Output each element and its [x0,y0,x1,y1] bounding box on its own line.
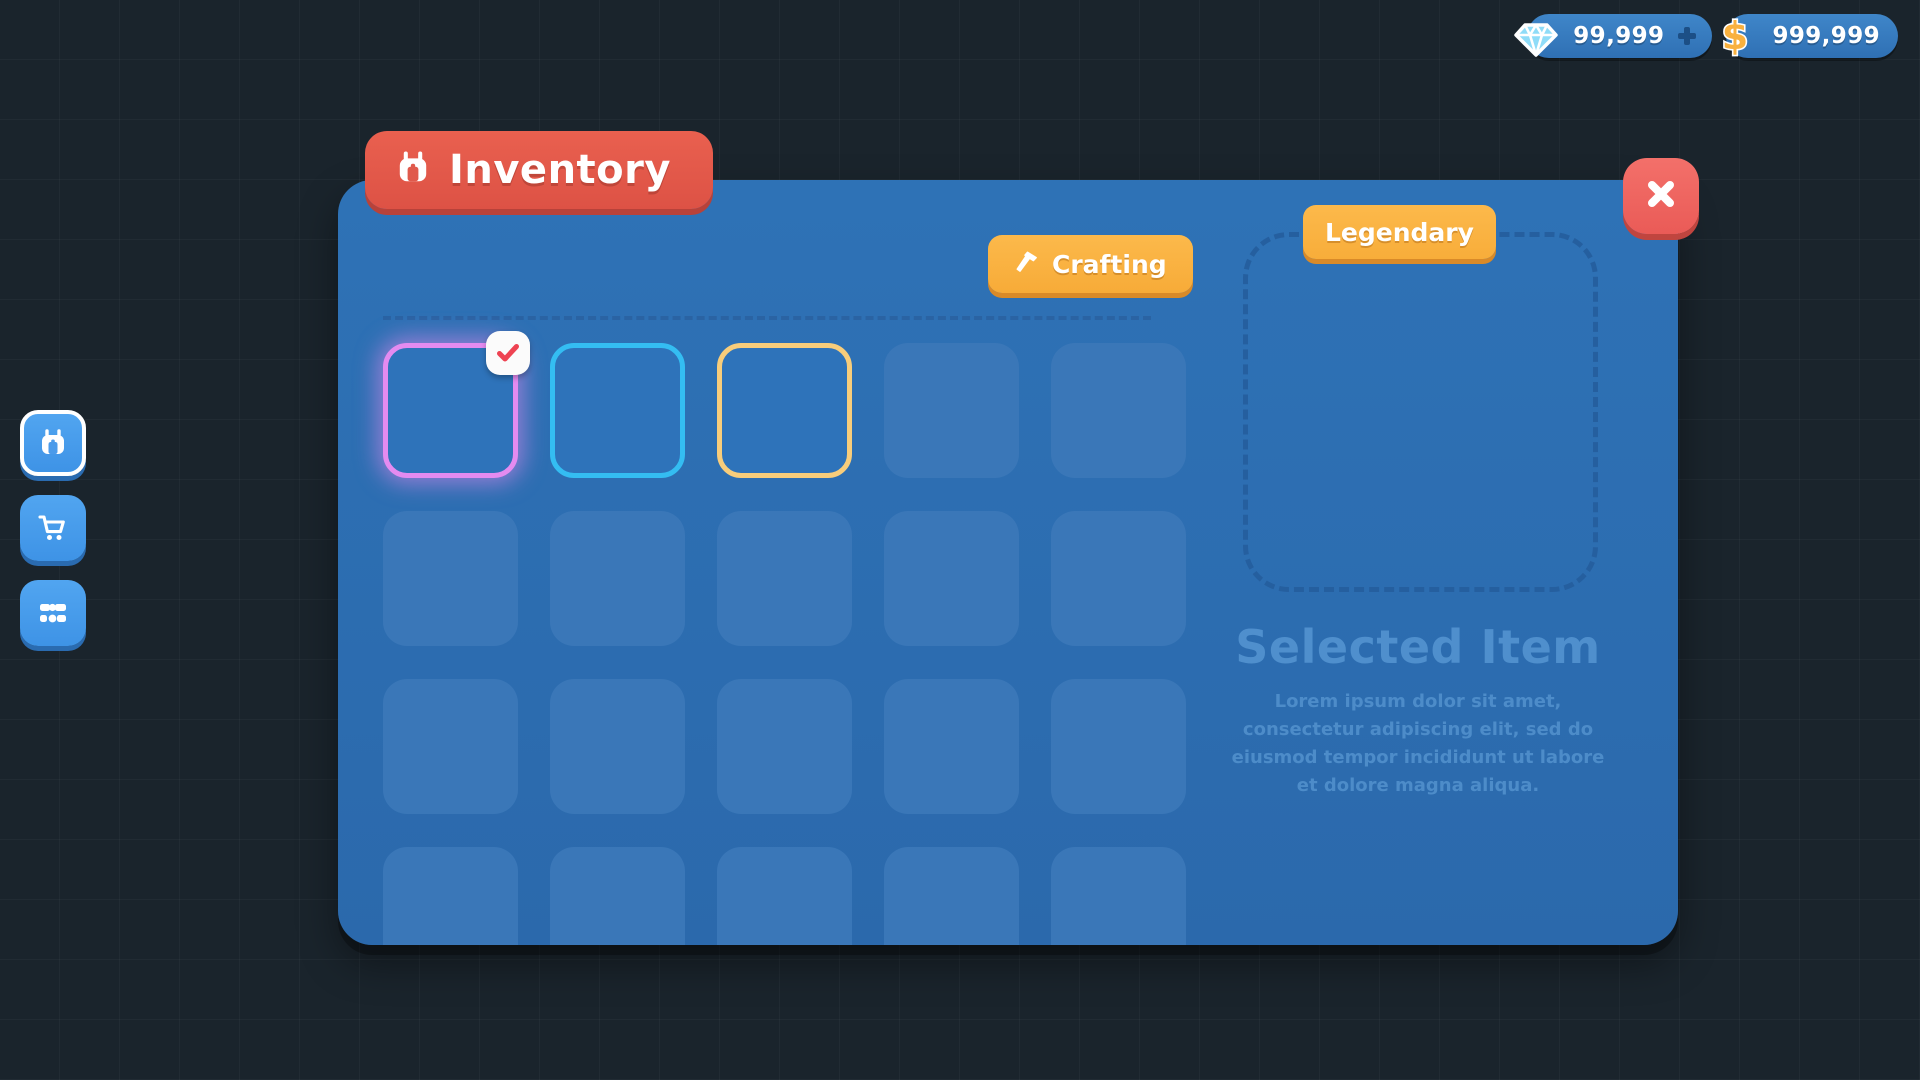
inventory-slot[interactable] [717,847,852,945]
item-dropzone[interactable] [1243,232,1598,592]
page-title: Inventory [449,147,671,193]
svg-text:$: $ [1722,14,1748,58]
inventory-grid [383,343,1151,903]
inventory-slot[interactable] [1051,847,1186,945]
item-detail-panel: Legendary Selected Item Lorem ipsum dolo… [1198,210,1638,910]
inventory-slot[interactable] [383,343,518,478]
inventory-slot[interactable] [717,343,852,478]
selected-item-description: Lorem ipsum dolor sit amet, consectetur … [1226,688,1610,800]
close-button[interactable] [1623,158,1699,234]
panel-inner: Crafting [338,180,1678,945]
rarity-badge-label: Legendary [1325,218,1474,247]
crafting-button-label: Crafting [1052,250,1167,279]
sidebar-item-settings[interactable] [20,580,86,646]
inventory-slot[interactable] [550,847,685,945]
rarity-badge: Legendary [1303,205,1496,259]
inventory-slot[interactable] [717,511,852,646]
inventory-panel: Crafting [338,180,1678,945]
shopping-cart-icon [38,513,68,543]
currency-value-gems: 99,999 [1573,23,1664,49]
currency-value-coins: 999,999 [1772,23,1880,49]
add-gems-icon[interactable] [1676,25,1698,47]
hammer-icon [1014,249,1040,279]
inventory-slot[interactable] [884,847,1019,945]
inventory-slot[interactable] [383,679,518,814]
inventory-slot[interactable] [383,511,518,646]
dollar-icon: $ [1712,13,1758,59]
close-icon [1644,177,1678,215]
sidebar-item-shop[interactable] [20,495,86,561]
selected-item-title: Selected Item [1198,620,1638,674]
inventory-slot[interactable] [884,343,1019,478]
inventory-slot[interactable] [550,679,685,814]
sidebar-item-inventory[interactable] [20,410,86,476]
inventory-slot[interactable] [1051,679,1186,814]
backpack-icon [38,428,68,458]
inventory-slot[interactable] [884,679,1019,814]
inventory-slot[interactable] [550,511,685,646]
crafting-button[interactable]: Crafting [988,235,1193,293]
check-icon[interactable] [486,331,530,375]
backpack-icon [395,150,431,190]
diamond-icon [1513,13,1559,59]
inventory-slot[interactable] [383,847,518,945]
sliders-icon [38,598,68,628]
inventory-slot[interactable] [884,511,1019,646]
currency-pill-gems[interactable]: 99,999 [1527,14,1712,58]
currency-pill-coins[interactable]: $ 999,999 [1726,14,1898,58]
sidebar [20,410,86,646]
inventory-slot[interactable] [550,343,685,478]
section-divider [383,316,1151,320]
panel-header-tab: Inventory [365,131,713,209]
inventory-slot[interactable] [1051,343,1186,478]
inventory-slot[interactable] [1051,511,1186,646]
currency-bar: 99,999 $ 999,999 [1527,14,1898,58]
inventory-slot[interactable] [717,679,852,814]
